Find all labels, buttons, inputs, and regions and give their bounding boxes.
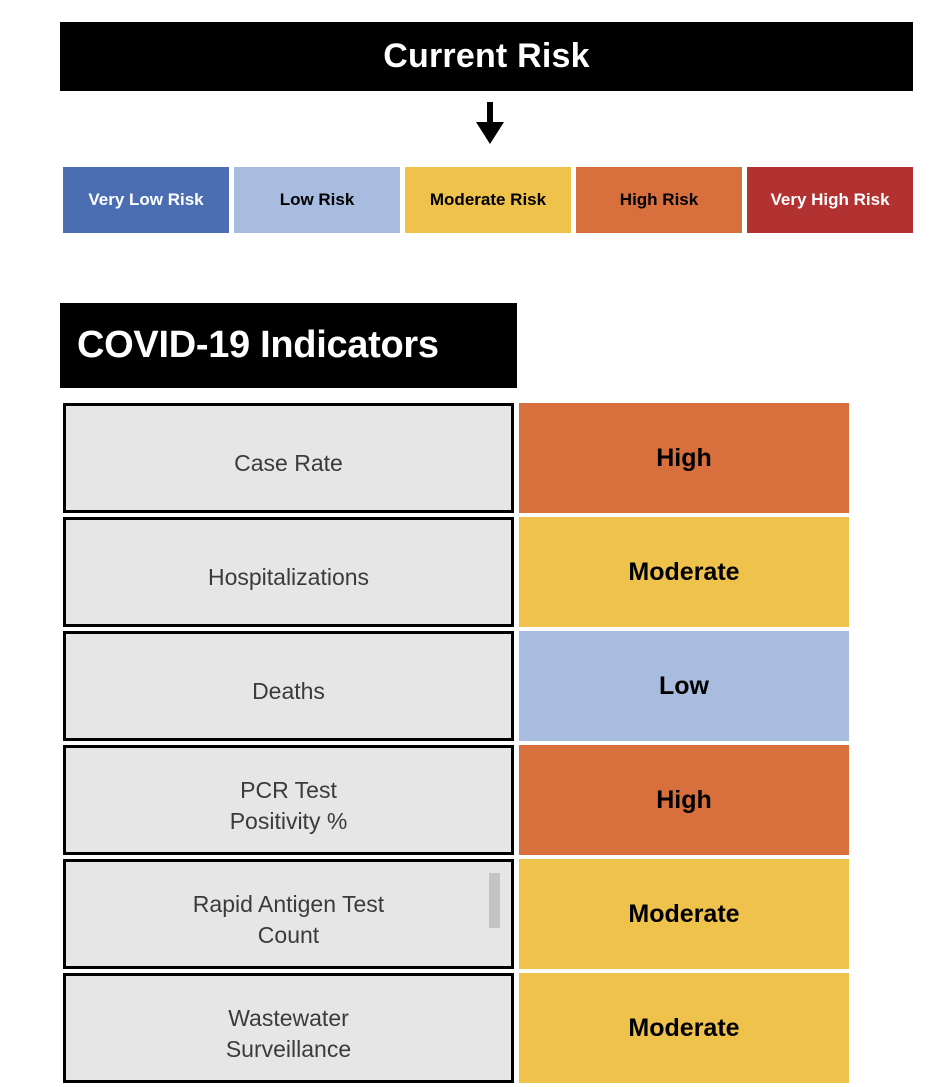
- indicator-level-label: Moderate: [628, 1014, 739, 1043]
- indicator-name-label: Rapid Antigen Test Count: [193, 889, 384, 951]
- indicator-level-badge: Moderate: [519, 517, 849, 627]
- indicator-name-cell[interactable]: Wastewater Surveillance: [63, 973, 514, 1083]
- indicator-name-label: Hospitalizations: [208, 562, 369, 593]
- covid-indicators-title: COVID-19 Indicators: [60, 303, 517, 388]
- current-risk-header: Current Risk: [60, 22, 913, 91]
- indicator-name-label: Case Rate: [234, 448, 343, 479]
- risk-segment-label: Moderate Risk: [430, 191, 546, 210]
- indicator-level-label: High: [656, 786, 712, 815]
- risk-scale-bar: Very Low Risk Low Risk Moderate Risk Hig…: [63, 167, 913, 233]
- indicator-row: HospitalizationsModerate: [63, 517, 849, 627]
- indicator-name-label: Wastewater Surveillance: [226, 1003, 351, 1065]
- indicator-row: Wastewater SurveillanceModerate: [63, 973, 849, 1083]
- indicator-row: Rapid Antigen Test CountModerate: [63, 859, 849, 969]
- risk-segment-label: Very High Risk: [770, 191, 889, 210]
- risk-segment-label: Very Low Risk: [88, 191, 203, 210]
- indicator-level-badge: High: [519, 745, 849, 855]
- indicator-name-label: Deaths: [252, 676, 325, 707]
- down-arrow-icon: [468, 100, 512, 148]
- indicator-level-badge: High: [519, 403, 849, 513]
- current-risk-title: Current Risk: [383, 37, 589, 76]
- indicator-name-label: PCR Test Positivity %: [230, 775, 348, 837]
- covid-indicators-table: Case RateHighHospitalizationsModerateDea…: [63, 403, 849, 1087]
- risk-segment-moderate[interactable]: Moderate Risk: [405, 167, 571, 233]
- cell-scrollbar-thumb[interactable]: [489, 873, 500, 928]
- risk-segment-very-low[interactable]: Very Low Risk: [63, 167, 229, 233]
- indicator-level-badge: Low: [519, 631, 849, 741]
- indicator-name-cell[interactable]: Case Rate: [63, 403, 514, 513]
- indicator-row: Case RateHigh: [63, 403, 849, 513]
- indicator-name-cell[interactable]: Hospitalizations: [63, 517, 514, 627]
- indicator-name-cell[interactable]: PCR Test Positivity %: [63, 745, 514, 855]
- risk-segment-high[interactable]: High Risk: [576, 167, 742, 233]
- indicator-level-label: Moderate: [628, 558, 739, 587]
- indicator-level-badge: Moderate: [519, 859, 849, 969]
- indicator-level-badge: Moderate: [519, 973, 849, 1083]
- risk-segment-label: High Risk: [620, 191, 698, 210]
- indicator-level-label: Moderate: [628, 900, 739, 929]
- risk-segment-low[interactable]: Low Risk: [234, 167, 400, 233]
- indicator-name-cell[interactable]: Rapid Antigen Test Count: [63, 859, 514, 969]
- risk-segment-very-high[interactable]: Very High Risk: [747, 167, 913, 233]
- indicator-row: PCR Test Positivity %High: [63, 745, 849, 855]
- indicator-row: DeathsLow: [63, 631, 849, 741]
- indicator-level-label: Low: [659, 672, 709, 701]
- covid-indicators-title-label: COVID-19 Indicators: [77, 324, 439, 367]
- indicator-name-cell[interactable]: Deaths: [63, 631, 514, 741]
- indicator-level-label: High: [656, 444, 712, 473]
- risk-segment-label: Low Risk: [280, 191, 355, 210]
